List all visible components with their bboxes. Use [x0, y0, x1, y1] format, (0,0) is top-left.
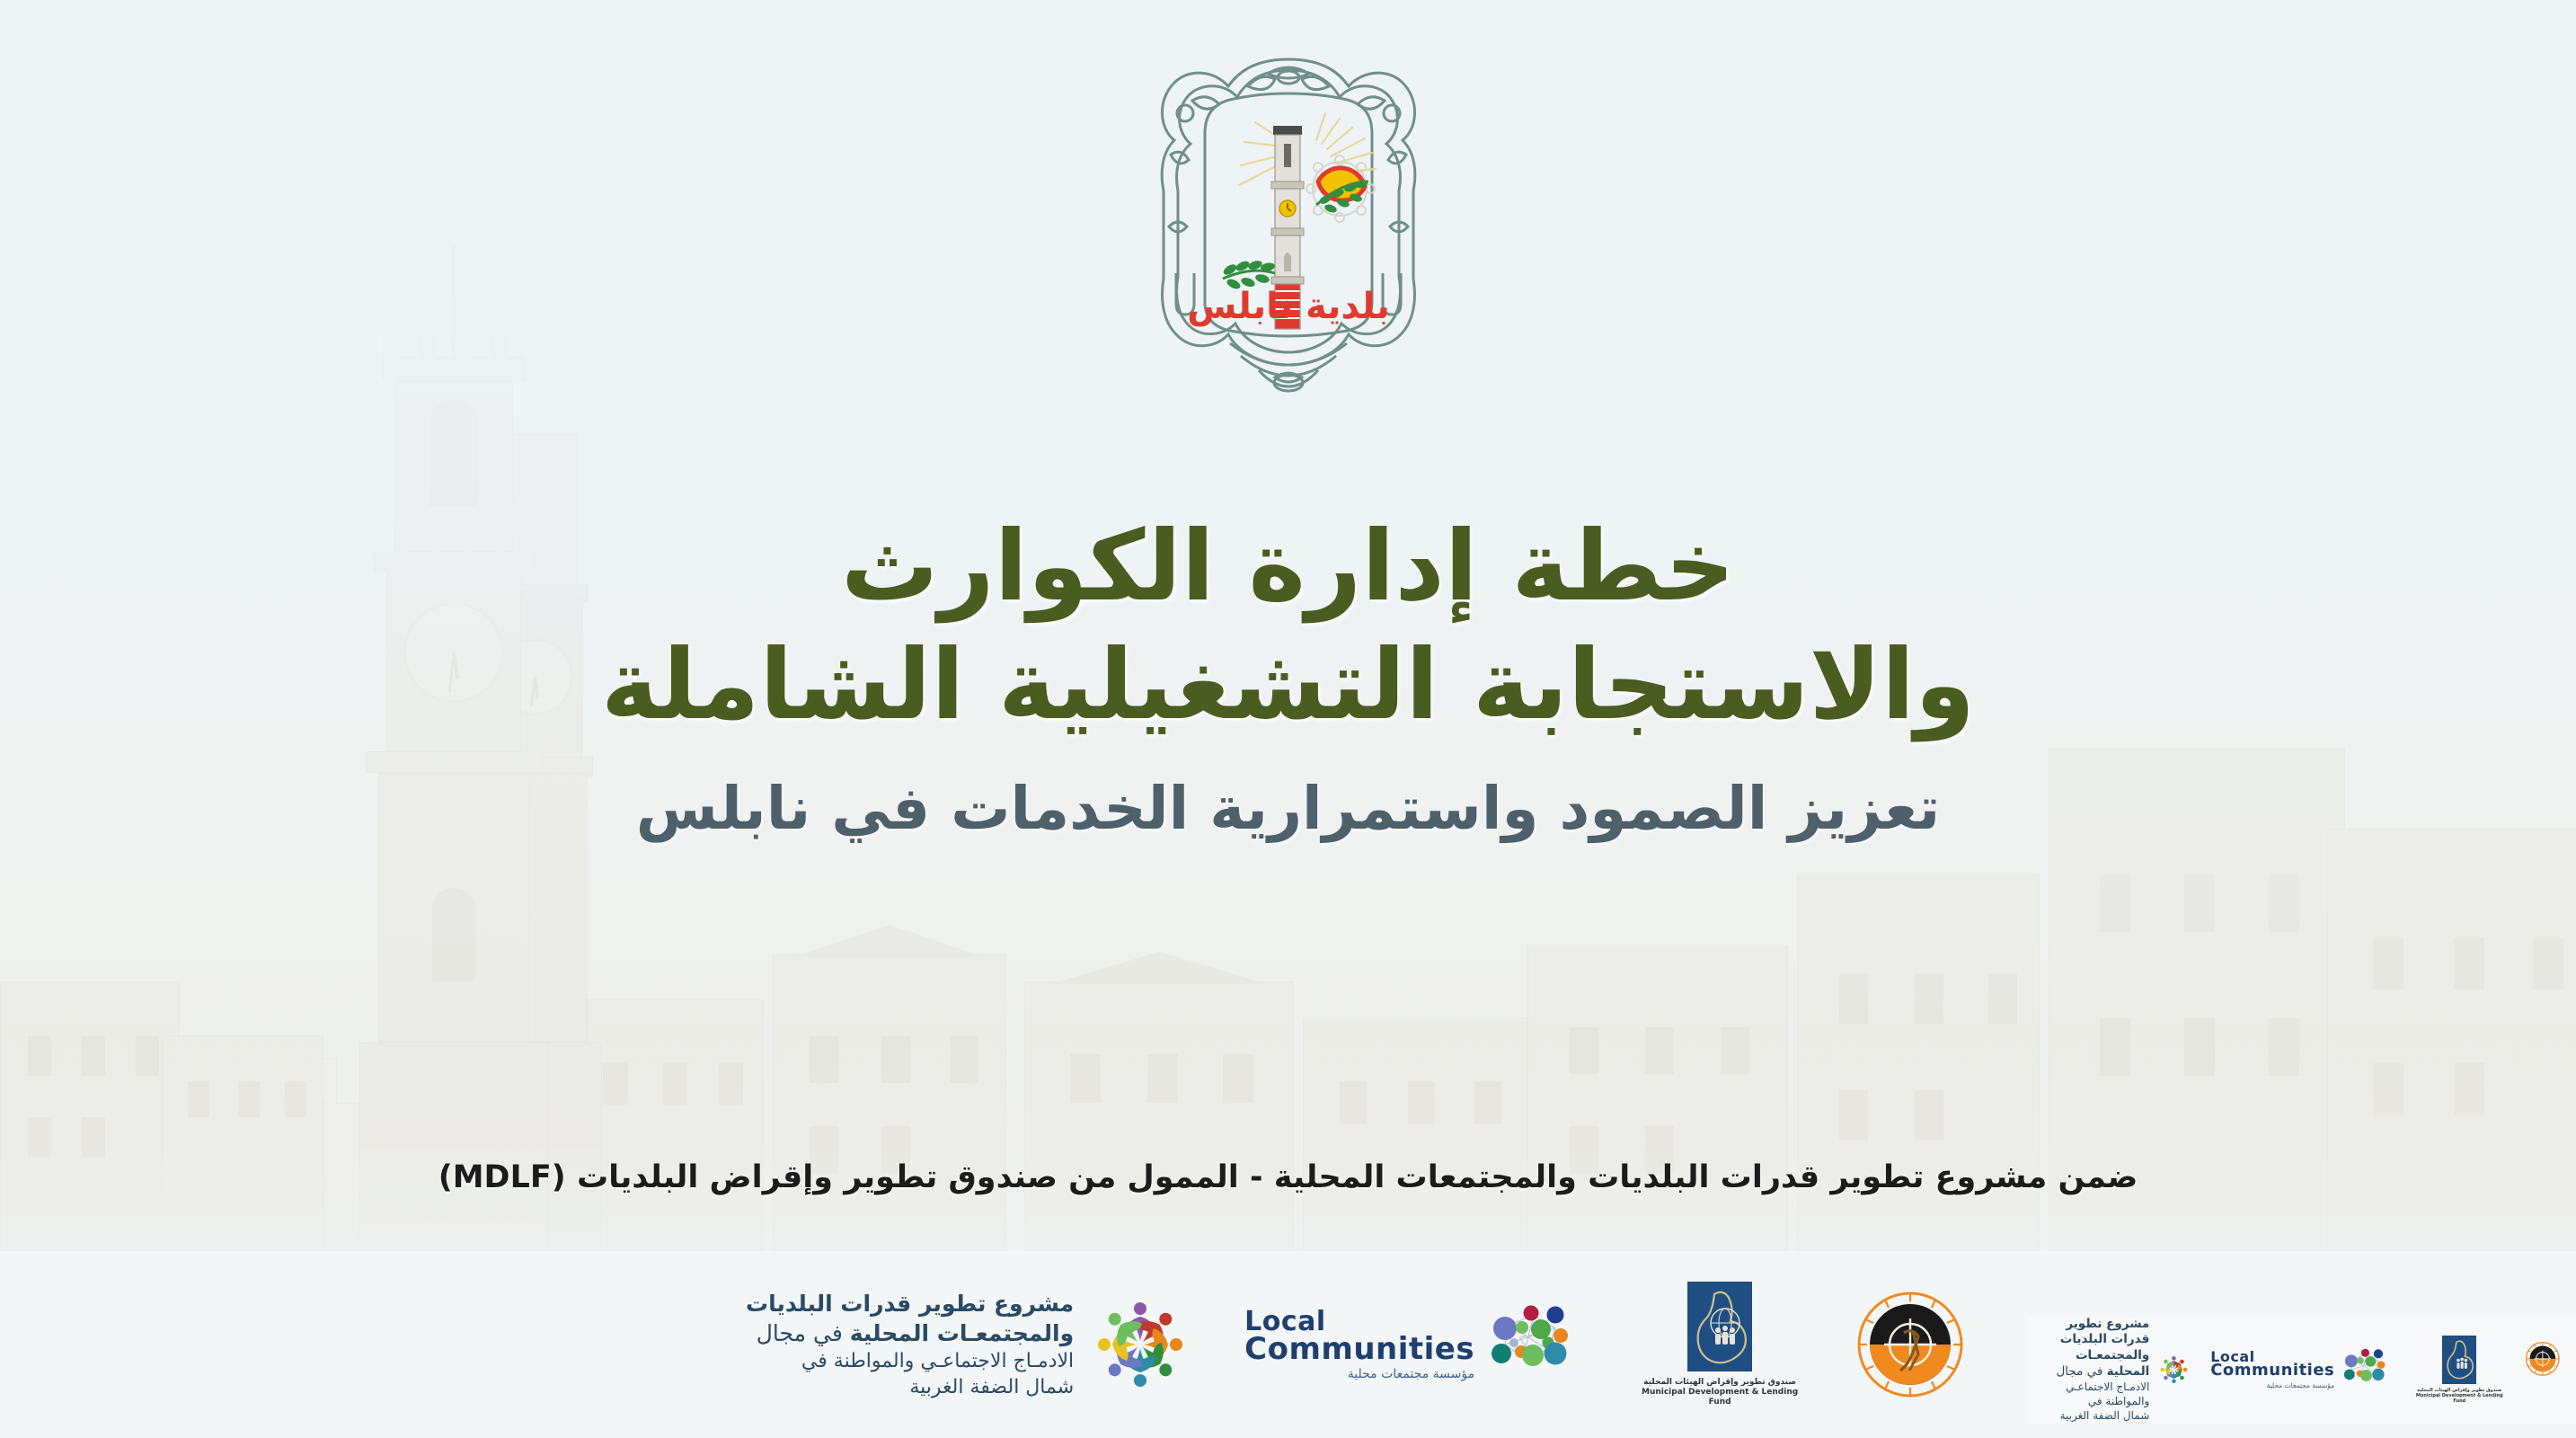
title-line-2: والاستجابة التشغيلية الشاملة — [0, 626, 2576, 745]
project-capacity-building-logo-small: مشروع تطوير قدرات البلديات والمجتمعـات ا… — [2044, 1317, 2191, 1424]
mdlf-logo-small: صندوق تطوير وإقراض الهيئات المحلية Munic… — [2412, 1336, 2506, 1405]
local-communities-caption-ar: مؤسسة مجتمعات محلية — [1244, 1368, 1474, 1380]
mdlf-caption-ar-small: صندوق تطوير وإقراض الهيئات المحلية — [2412, 1388, 2506, 1393]
local-communities-caption-ar-small: مؤسسة مجتمعات محلية — [2210, 1382, 2334, 1389]
project-capacity-building-logo: مشروع تطوير قدرات البلديات والمجتمعـات ا… — [746, 1289, 1192, 1400]
project-logo-line-2b: في مجال — [757, 1320, 843, 1346]
local-communities-text-small: Local Communities مؤسسة مجتمعات محلية — [2210, 1350, 2334, 1389]
nablus-municipality-seal-logo-small — [2526, 1342, 2560, 1398]
project-logo-line-2b-small: في مجال — [2056, 1364, 2102, 1379]
page-subtitle: تعزيز الصمود واستمرارية الخدمات في نابلس — [0, 770, 2576, 848]
mdlf-logo-mark — [1687, 1282, 1752, 1371]
local-communities-dots-mark-small — [2339, 1345, 2393, 1395]
mdlf-caption: صندوق تطوير وإقراض الهيئات المحلية Munic… — [1634, 1378, 1805, 1408]
mdlf-caption-en-small: Municipal Development & Lending Fund — [2412, 1393, 2506, 1405]
corner-logo-strip: صندوق تطوير وإقراض الهيئات المحلية Munic… — [2028, 1317, 2576, 1423]
nablus-municipality-seal-logo — [1857, 1292, 1963, 1398]
project-logo-line-3: الادمـاج الاجتماعـي والمواطنة في — [746, 1348, 1074, 1374]
people-circle-icon-small — [2157, 1342, 2191, 1398]
local-communities-logo-small: Local Communities مؤسسة مجتمعات محلية — [2210, 1345, 2393, 1395]
mdlf-logo: صندوق تطوير وإقراض الهيئات المحلية Munic… — [1634, 1282, 1805, 1408]
nablus-municipality-emblem: بلدية نابلس — [1140, 47, 1437, 406]
mdlf-caption-en: Municipal Development & Lending Fund — [1634, 1388, 1805, 1408]
project-logo-text: مشروع تطوير قدرات البلديات والمجتمعـات ا… — [746, 1289, 1074, 1400]
project-logo-line-4: شمال الضفة الغربية — [746, 1374, 1074, 1400]
project-logo-line-2: والمجتمعـات المحلية في مجال — [746, 1318, 1074, 1348]
mdlf-caption-small: صندوق تطوير وإقراض الهيئات المحلية Munic… — [2412, 1388, 2506, 1405]
mdlf-logo-mark-small — [2442, 1336, 2476, 1384]
project-logo-line-2a: والمجتمعـات المحلية — [850, 1320, 1074, 1346]
project-logo-line-1-small: مشروع تطوير قدرات البلديات — [2044, 1317, 2149, 1349]
local-communities-word-2-small: Communities — [2210, 1363, 2334, 1379]
project-logo-line-1: مشروع تطوير قدرات البلديات — [746, 1289, 1074, 1318]
mdlf-caption-ar: صندوق تطوير وإقراض الهيئات المحلية — [1634, 1378, 1805, 1388]
emblem-caption: بلدية نابلس — [1187, 286, 1390, 327]
local-communities-dots-mark — [1482, 1298, 1582, 1391]
project-logo-text-small: مشروع تطوير قدرات البلديات والمجتمعـات ا… — [2044, 1317, 2149, 1424]
title-block: خطة إدارة الكوارث والاستجابة التشغيلية ا… — [0, 508, 2576, 847]
cover-page: بلدية نابلس خطة إدارة الكوارث والاستجابة… — [0, 0, 2576, 1438]
local-communities-logo: Local Communities مؤسسة مجتمعات محلية — [1244, 1298, 1582, 1391]
project-logo-line-4-small: شمال الضفة الغربية — [2044, 1409, 2149, 1424]
project-logo-line-2-small: والمجتمعـات المحلية في مجال — [2044, 1348, 2149, 1380]
people-circle-icon — [1088, 1292, 1192, 1397]
funding-banner: ضمن مشروع تطوير قدرات البلديات والمجتمعا… — [0, 1159, 2576, 1195]
project-logo-line-3-small: الادمـاج الاجتماعـي والمواطنة في — [2044, 1380, 2149, 1409]
local-communities-text: Local Communities مؤسسة مجتمعات محلية — [1244, 1309, 1474, 1380]
local-communities-word-2: Communities — [1244, 1334, 1474, 1364]
title-line-1: خطة إدارة الكوارث — [0, 508, 2576, 626]
footer-logo-row: صندوق تطوير وإقراض الهيئات المحلية Munic… — [746, 1267, 1963, 1422]
